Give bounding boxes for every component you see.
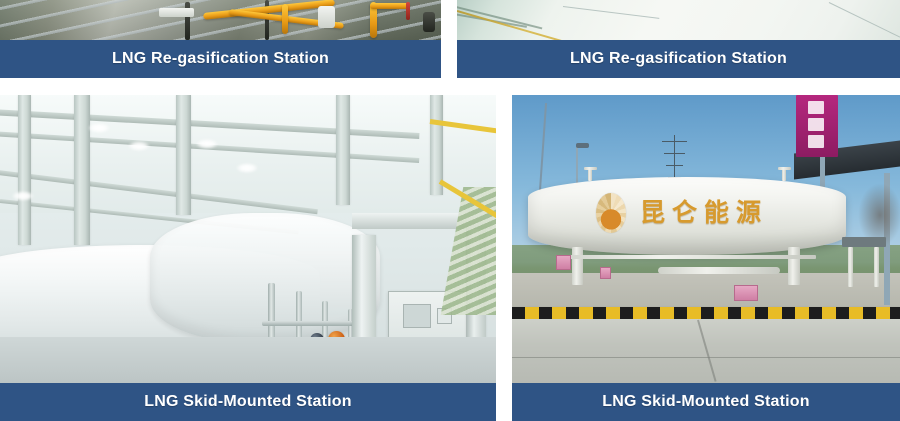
lamp-head-icon	[576, 143, 589, 148]
card-caption-bottom-left: LNG Skid-Mounted Station	[0, 383, 496, 421]
pavement-seam	[697, 320, 717, 382]
gas-riser-yellow	[282, 4, 288, 34]
ceiling-light	[88, 123, 110, 133]
signboard-character	[808, 101, 824, 114]
gallery-card-lng-regasification-1[interactable]: LNG Re-gasification Station	[0, 0, 441, 78]
ground-seam	[563, 6, 660, 19]
tank-top-nozzle-cap	[584, 167, 597, 170]
tank-top-nozzle-cap	[778, 167, 791, 170]
card-caption-top-right: LNG Re-gasification Station	[457, 40, 900, 78]
petrochina-kunlun-logo-icon	[596, 193, 626, 233]
gallery-card-lng-skid-mounted-2[interactable]: 昆仑能源 LNG Skid-Mounted Station	[512, 95, 900, 421]
tank-support-saddle	[572, 247, 583, 285]
pump-skid-leg	[848, 247, 853, 287]
pump-skid-leg	[874, 247, 879, 287]
equipment-dark	[423, 12, 435, 32]
safety-curb-hazard-stripes	[512, 307, 900, 319]
ceiling-light	[196, 139, 218, 149]
manifold-pipe-horizontal	[262, 321, 358, 326]
auxiliary-vessel	[658, 267, 780, 274]
pavement-seam	[512, 357, 900, 358]
cabinet-window-panel	[403, 304, 431, 328]
equipment-white-box	[159, 8, 194, 17]
concrete-pavement	[512, 319, 900, 383]
gas-pipe-yellow	[370, 3, 410, 9]
instrument-box-pink	[734, 285, 758, 301]
pipe-red	[406, 2, 410, 20]
photo-lng-bullet-tank-outdoor: 昆仑能源	[512, 95, 900, 383]
structural-column	[176, 95, 191, 215]
ground-seam	[829, 2, 900, 38]
pylon-crossarm	[666, 165, 683, 166]
tank-lower-pipe-run	[556, 255, 816, 259]
tank-brand-text: 昆仑能源	[640, 193, 768, 229]
pylon-crossarm	[662, 141, 687, 142]
card-caption-top-left: LNG Re-gasification Station	[0, 40, 441, 78]
tank-top-nozzle	[588, 169, 592, 181]
gallery-card-lng-regasification-2[interactable]: LNG Re-gasification Station	[457, 0, 900, 78]
equipment-white-cylinder	[318, 6, 336, 28]
gallery-card-lng-skid-mounted-1[interactable]: LNG Skid-Mounted Station	[0, 95, 496, 421]
tank-top-nozzle	[782, 169, 786, 181]
ceiling-light	[128, 141, 150, 151]
photo-lng-skid-mounted-indoor	[0, 95, 496, 383]
pylon-crossarm	[664, 153, 685, 154]
instrument-box-pink	[600, 267, 611, 279]
structural-column	[18, 95, 31, 245]
structural-column	[336, 95, 350, 205]
instrument-box-pink	[556, 255, 571, 270]
structural-column	[74, 95, 90, 245]
signboard-character	[808, 135, 824, 148]
tank-support-saddle	[788, 247, 800, 285]
pump-skid	[842, 237, 886, 247]
ceiling-light	[236, 163, 258, 173]
station-signboard	[796, 95, 838, 157]
product-photo-gallery: LNG Re-gasification Station LNG Re-gasif…	[0, 0, 900, 421]
signboard-character	[808, 118, 824, 131]
card-caption-bottom-right: LNG Skid-Mounted Station	[512, 383, 900, 421]
plant-floor	[0, 337, 496, 383]
photo-lng-regasification-paving	[457, 0, 900, 40]
ceiling-light	[12, 191, 34, 201]
photo-lng-regasification-piping	[0, 0, 441, 40]
